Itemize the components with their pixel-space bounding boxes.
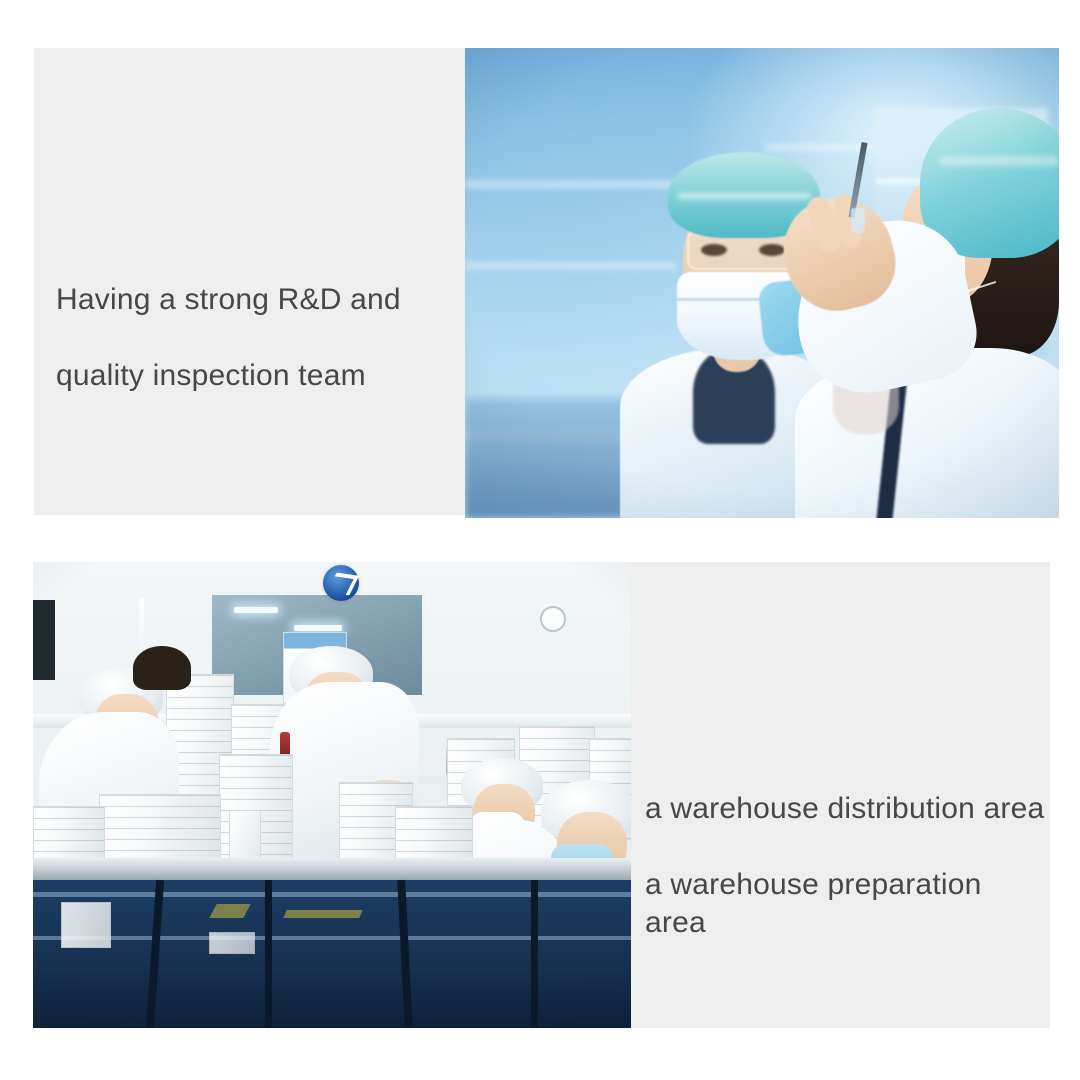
photo-lab-quality-inspection [465, 48, 1059, 518]
photo-vignette [465, 48, 1059, 518]
photo-warehouse-packing-area [33, 562, 631, 1028]
caption-top: Having a strong R&D and quality inspecti… [56, 243, 456, 433]
caption-bottom: a warehouse distribution area a warehous… [645, 752, 1045, 980]
caption-bottom-line-1: a warehouse distribution area [645, 790, 1045, 828]
caption-top-line-2: quality inspection team [56, 357, 456, 395]
caption-bottom-line-2: a warehouse preparation area [645, 866, 1045, 942]
caption-top-line-1: Having a strong R&D and [56, 281, 456, 319]
photo-vignette [33, 562, 631, 1028]
